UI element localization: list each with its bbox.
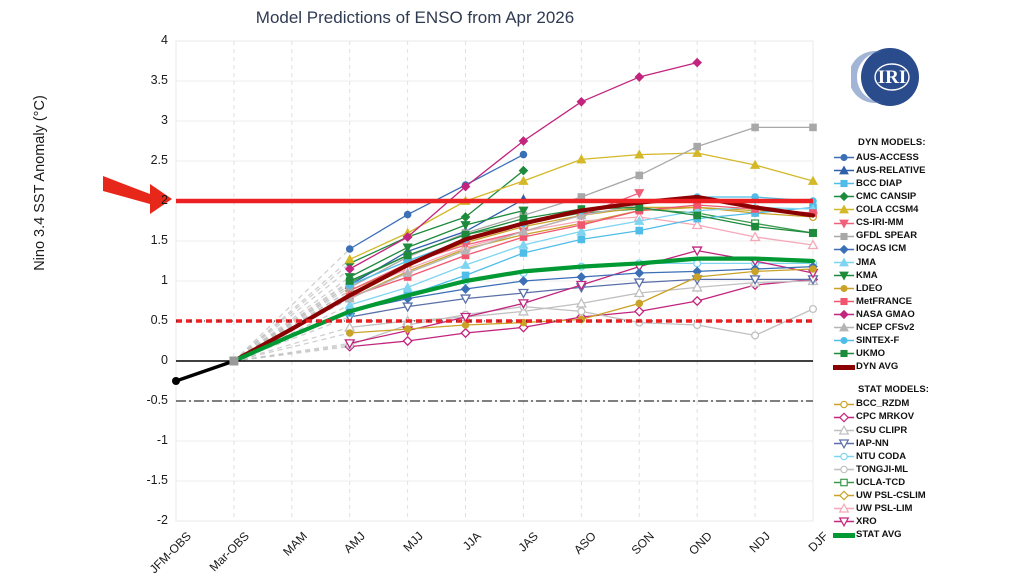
legend-group-dyn: AUS-ACCESSAUS-RELATIVEBCC DIAPCMC CANSIP… [832, 151, 1022, 374]
legend-marker-icon [832, 282, 856, 295]
legend-item-cola-ccsm4[interactable]: COLA CCSM4 [832, 203, 1022, 216]
data-point-marker [752, 268, 759, 275]
y-axis-tick-label: 0.5 [128, 313, 168, 327]
data-point-marker [810, 266, 817, 273]
legend-item-label: GFDL SPEAR [856, 231, 917, 241]
legend-marker-icon [832, 450, 856, 463]
y-axis-tick-label: -0.5 [128, 393, 168, 407]
legend-item-ncep-cfsv2[interactable]: NCEP CFSv2 [832, 321, 1022, 334]
iri-logo: IRI [851, 40, 925, 114]
legend-marker-icon [832, 463, 856, 476]
data-point-marker [346, 278, 353, 285]
legend-marker-icon [832, 502, 856, 515]
legend-item-label: CPC MRKOV [856, 412, 914, 422]
legend-item-label: KMA [856, 271, 878, 281]
legend-item-label: DYN AVG [856, 362, 898, 372]
chart-legend: DYN MODELS: AUS-ACCESSAUS-RELATIVEBCC DI… [832, 138, 1022, 542]
y-axis-tick-label: 2.5 [128, 153, 168, 167]
legend-item-ntu-coda[interactable]: NTU CODA [832, 450, 1022, 463]
legend-item-iap-nn[interactable]: IAP-NN [832, 437, 1022, 450]
forecast-origin-point [229, 357, 238, 366]
legend-marker-icon [832, 217, 856, 230]
data-point-marker [636, 172, 643, 179]
legend-item-uw-psl-cslim[interactable]: UW PSL-CSLIM [832, 489, 1022, 502]
data-point-marker [578, 222, 585, 229]
legend-marker-icon [832, 203, 856, 216]
legend-item-label: AUS-ACCESS [856, 153, 919, 163]
legend-marker-icon [832, 529, 856, 542]
legend-header-dyn: DYN MODELS: [832, 138, 1022, 148]
legend-item-gfdl-spear[interactable]: GFDL SPEAR [832, 230, 1022, 243]
y-axis-tick-label: 4 [128, 33, 168, 47]
legend-header-stat: STAT MODELS: [832, 385, 1022, 395]
legend-item-ucla-tcd[interactable]: UCLA-TCD [832, 476, 1022, 489]
legend-item-ukmo[interactable]: UKMO [832, 347, 1022, 360]
legend-item-label: CMC CANSIP [856, 192, 916, 202]
legend-marker-icon [832, 515, 856, 528]
legend-item-label: NASA GMAO [856, 310, 915, 320]
legend-marker-icon [832, 230, 856, 243]
legend-item-cs-iri-mm[interactable]: CS-IRI-MM [832, 216, 1022, 229]
legend-marker-icon [832, 489, 856, 502]
legend-item-label: TONGJI-ML [856, 465, 908, 475]
legend-marker-icon [832, 437, 856, 450]
data-point-marker [694, 274, 701, 281]
legend-item-metfrance[interactable]: MetFRANCE [832, 295, 1022, 308]
legend-item-label: XRO [856, 517, 877, 527]
legend-item-label: SINTEX-F [856, 336, 899, 346]
legend-item-label: BCC_RZDM [856, 399, 909, 409]
data-point-marker [694, 143, 701, 150]
legend-item-iocas-icm[interactable]: IOCAS ICM [832, 243, 1022, 256]
y-axis-tick-label: 1 [128, 273, 168, 287]
legend-marker-icon [832, 347, 856, 360]
legend-marker-icon [832, 398, 856, 411]
legend-item-label: COLA CCSM4 [856, 205, 918, 215]
data-point-marker [752, 124, 759, 131]
legend-group-stat: BCC_RZDMCPC MRKOVCSU CLIPRIAP-NNNTU CODA… [832, 398, 1022, 542]
legend-marker-icon [832, 295, 856, 308]
data-point-marker [404, 252, 411, 259]
legend-item-cmc-cansip[interactable]: CMC CANSIP [832, 190, 1022, 203]
legend-item-sintex-f[interactable]: SINTEX-F [832, 334, 1022, 347]
data-point-marker [578, 308, 585, 315]
y-axis-tick-label: -2 [128, 513, 168, 527]
legend-marker-icon [832, 190, 856, 203]
legend-item-label: JMA [856, 258, 876, 268]
y-axis-tick-label: 1.5 [128, 233, 168, 247]
legend-item-stat-avg[interactable]: STAT AVG [832, 529, 1022, 542]
y-axis-tick-label: -1.5 [128, 473, 168, 487]
legend-marker-icon [832, 308, 856, 321]
legend-marker-icon [832, 164, 856, 177]
legend-marker-icon [832, 424, 856, 437]
legend-item-tongji-ml[interactable]: TONGJI-ML [832, 463, 1022, 476]
legend-marker-icon [832, 243, 856, 256]
data-point-marker [520, 250, 527, 257]
data-point-marker [346, 330, 353, 337]
legend-item-label: BCC DIAP [856, 179, 902, 189]
legend-item-label: AUS-RELATIVE [856, 166, 926, 176]
legend-item-kma[interactable]: KMA [832, 269, 1022, 282]
data-point-marker [636, 227, 643, 234]
data-point-marker [346, 246, 353, 253]
legend-item-aus-access[interactable]: AUS-ACCESS [832, 151, 1022, 164]
legend-marker-icon [832, 177, 856, 190]
legend-item-label: UKMO [856, 349, 885, 359]
data-point-marker [752, 332, 759, 339]
legend-marker-icon [832, 476, 856, 489]
legend-marker-icon [832, 256, 856, 269]
legend-item-jma[interactable]: JMA [832, 256, 1022, 269]
legend-item-dyn-avg[interactable]: DYN AVG [832, 361, 1022, 374]
legend-marker-icon [832, 361, 856, 374]
data-point-marker [462, 272, 469, 279]
legend-item-label: IAP-NN [856, 439, 889, 449]
legend-marker-icon [832, 411, 856, 424]
legend-item-label: UCLA-TCD [856, 478, 905, 488]
legend-item-uw-psl-lim[interactable]: UW PSL-LIM [832, 502, 1022, 515]
legend-item-aus-relative[interactable]: AUS-RELATIVE [832, 164, 1022, 177]
legend-item-label: MetFRANCE [856, 297, 912, 307]
y-axis-tick-label: -1 [128, 433, 168, 447]
legend-marker-icon [832, 269, 856, 282]
legend-item-csu-clipr[interactable]: CSU CLIPR [832, 424, 1022, 437]
iri-logo-text: IRI [878, 67, 907, 88]
legend-item-label: UW PSL-LIM [856, 504, 912, 514]
legend-marker-icon [832, 334, 856, 347]
data-point-marker [694, 212, 701, 219]
y-axis-tick-label: 3.5 [128, 73, 168, 87]
legend-marker-icon [832, 151, 856, 164]
data-point-marker [752, 223, 759, 230]
data-point-marker [810, 124, 817, 131]
data-point-marker [694, 260, 701, 267]
data-point-marker [810, 306, 817, 313]
legend-item-label: CSU CLIPR [856, 426, 907, 436]
data-point-marker [520, 151, 527, 158]
y-axis-tick-label: 2 [128, 193, 168, 207]
legend-item-label: CS-IRI-MM [856, 218, 904, 228]
legend-item-label: IOCAS ICM [856, 244, 906, 254]
data-point-marker [404, 326, 411, 333]
data-point-marker [636, 300, 643, 307]
legend-item-label: STAT AVG [856, 530, 902, 540]
observation-point [172, 377, 180, 385]
legend-item-label: NTU CODA [856, 452, 906, 462]
legend-item-label: LDEO [856, 284, 882, 294]
data-point-marker [578, 236, 585, 243]
data-point-marker [810, 230, 817, 237]
y-axis-tick-label: 0 [128, 353, 168, 367]
legend-item-bcc-diap[interactable]: BCC DIAP [832, 177, 1022, 190]
legend-item-nasa-gmao[interactable]: NASA GMAO [832, 308, 1022, 321]
data-point-marker [404, 211, 411, 218]
legend-marker-icon [832, 321, 856, 334]
legend-item-label: NCEP CFSv2 [856, 323, 914, 333]
y-axis-tick-label: 3 [128, 113, 168, 127]
legend-item-cpc-mrkov[interactable]: CPC MRKOV [832, 411, 1022, 424]
legend-item-xro[interactable]: XRO [832, 515, 1022, 528]
legend-item-label: UW PSL-CSLIM [856, 491, 926, 501]
legend-item-ldeo[interactable]: LDEO [832, 282, 1022, 295]
legend-item-bcc-rzdm[interactable]: BCC_RZDM [832, 398, 1022, 411]
